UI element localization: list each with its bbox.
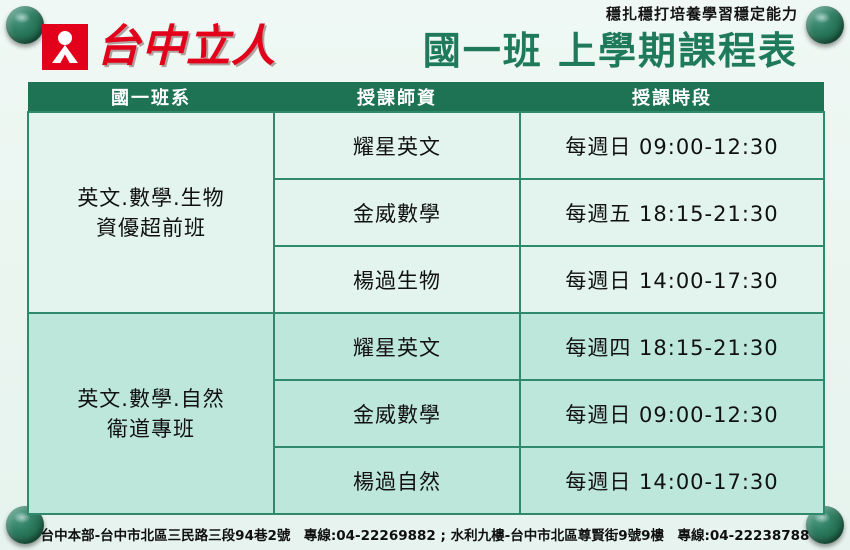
cell-teacher: 金威數學 (274, 380, 520, 447)
cell-time: 每週日 09:00-12:30 (520, 112, 824, 179)
course-schedule-poster: 台中立人 穩扎穩打培養學習穩定能力 國一班 上學期課程表 國一班系 授課師資 授… (0, 0, 850, 550)
page-title: 國一班 上學期課程表 (423, 26, 798, 76)
cell-time: 每週日 14:00-17:30 (520, 246, 824, 313)
table-row: 英文.數學.生物 資優超前班 耀星英文 每週日 09:00-12:30 (28, 112, 824, 179)
column-header-time: 授課時段 (520, 82, 824, 112)
person-body-shape (52, 45, 78, 63)
cell-teacher: 耀星英文 (274, 313, 520, 380)
column-header-teacher: 授課師資 (274, 82, 520, 112)
cell-teacher: 楊過自然 (274, 447, 520, 514)
cell-time: 每週四 18:15-21:30 (520, 313, 824, 380)
cell-teacher: 楊過生物 (274, 246, 520, 313)
person-head-shape (58, 31, 72, 45)
title-block: 穩扎穩打培養學習穩定能力 國一班 上學期課程表 (423, 4, 798, 76)
group-class-name: 英文.數學.生物 資優超前班 (28, 112, 274, 313)
poster-subtitle: 穩扎穩打培養學習穩定能力 (423, 4, 798, 24)
footer-contact-info: 台中本部-台中市北區三民路三段94巷2號 專線:04-22269882 ; 水利… (0, 524, 850, 544)
brand-logo: 台中立人 (42, 24, 276, 70)
schedule-table: 國一班系 授課師資 授課時段 英文.數學.生物 資優超前班 耀星英文 每週日 0… (27, 82, 825, 515)
table-row: 英文.數學.自然 衛道專班 耀星英文 每週四 18:15-21:30 (28, 313, 824, 380)
group-class-name-line1: 英文.數學.生物 (29, 183, 273, 213)
table-header-row: 國一班系 授課師資 授課時段 (28, 82, 824, 112)
poster-header: 台中立人 穩扎穩打培養學習穩定能力 國一班 上學期課程表 (0, 0, 850, 82)
cell-teacher: 耀星英文 (274, 112, 520, 179)
group-class-name-line1: 英文.數學.自然 (29, 384, 273, 414)
column-header-class: 國一班系 (28, 82, 274, 112)
brand-name: 台中立人 (96, 24, 276, 70)
cell-time: 每週日 09:00-12:30 (520, 380, 824, 447)
cell-time: 每週五 18:15-21:30 (520, 179, 824, 246)
group-class-name-line2: 衛道專班 (29, 414, 273, 444)
cell-teacher: 金威數學 (274, 179, 520, 246)
group-class-name: 英文.數學.自然 衛道專班 (28, 313, 274, 514)
person-mark-icon (42, 24, 88, 70)
group-class-name-line2: 資優超前班 (29, 213, 273, 243)
cell-time: 每週日 14:00-17:30 (520, 447, 824, 514)
